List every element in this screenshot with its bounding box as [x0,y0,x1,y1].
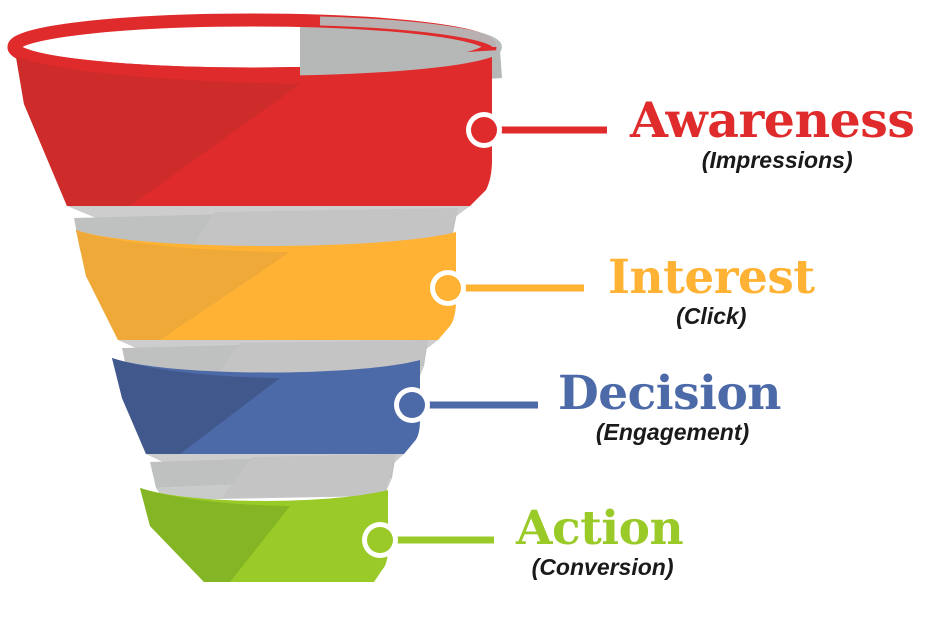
funnel-stage-action[interactable] [140,488,388,582]
interest-connector-dot[interactable] [435,275,461,301]
awareness-connector[interactable] [466,112,607,148]
connector-ribbon-3 [150,454,396,500]
stage-label-action[interactable]: Action (Conversion) [516,505,683,579]
stage-title-awareness: Awareness [630,96,914,146]
stage-label-interest[interactable]: Interest (Click) [608,254,815,328]
stage-title-interest: Interest [608,254,815,302]
interest-connector[interactable] [430,270,584,306]
action-connector-dot[interactable] [367,527,393,553]
stage-sublabel-interest: (Click) [608,305,815,328]
stage-title-decision: Decision [558,370,781,418]
stage-sublabel-awareness: (Impressions) [630,149,914,172]
stage-title-action: Action [516,505,683,553]
funnel-stage-awareness[interactable] [16,50,502,236]
funnel-diagram: Awareness (Impressions) Interest (Click)… [0,0,930,619]
stage-label-decision[interactable]: Decision (Engagement) [558,370,781,444]
decision-connector-dot[interactable] [399,392,425,418]
stage-sublabel-decision: (Engagement) [558,421,781,444]
action-connector[interactable] [362,522,494,558]
decision-connector[interactable] [394,387,538,423]
stage-label-awareness[interactable]: Awareness (Impressions) [630,96,914,172]
stage-sublabel-action: (Conversion) [516,556,683,579]
awareness-connector-dot[interactable] [471,117,497,143]
